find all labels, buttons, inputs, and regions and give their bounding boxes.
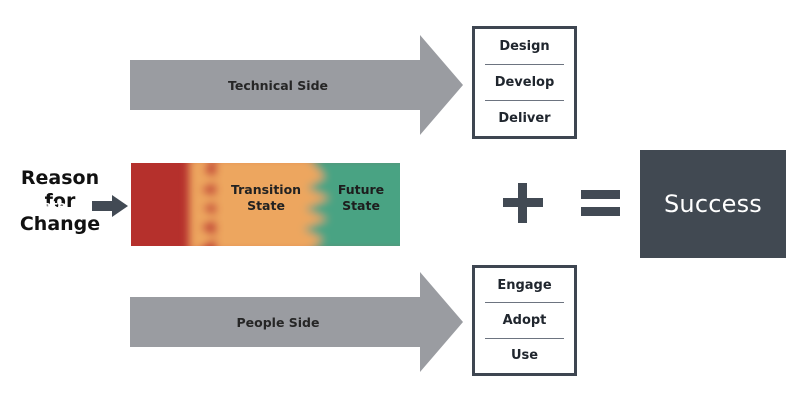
- technical-step-develop: Develop: [485, 64, 564, 100]
- plus-operator-icon: [503, 183, 543, 223]
- state-current-line1: Current: [20, 182, 74, 197]
- state-future-line2: State: [342, 198, 380, 213]
- state-transition-line2: State: [247, 198, 285, 213]
- people-steps-box: Engage Adopt Use: [472, 265, 577, 376]
- success-label: Success: [664, 190, 762, 218]
- state-transition-line1: Transition: [231, 182, 301, 197]
- state-label-future: Future State: [322, 182, 400, 213]
- people-side-arrow: People Side: [128, 271, 464, 373]
- diagram-canvas: Reason for Change Current State: [0, 0, 800, 401]
- state-label-current: Current State: [8, 182, 86, 213]
- technical-steps-box: Design Develop Deliver: [472, 26, 577, 139]
- technical-step-design: Design: [475, 29, 574, 64]
- technical-step-deliver: Deliver: [485, 100, 564, 136]
- technical-side-arrow: Technical Side: [128, 34, 464, 136]
- people-step-use: Use: [485, 338, 564, 373]
- state-future-line1: Future: [338, 182, 384, 197]
- state-label-transition: Transition State: [214, 182, 318, 213]
- right-arrow-icon: [92, 195, 128, 217]
- people-step-adopt: Adopt: [485, 302, 564, 337]
- people-step-engage: Engage: [475, 268, 574, 302]
- equals-operator-icon: [581, 190, 620, 216]
- success-box: Success: [640, 150, 786, 258]
- state-current-line2: State: [28, 198, 66, 213]
